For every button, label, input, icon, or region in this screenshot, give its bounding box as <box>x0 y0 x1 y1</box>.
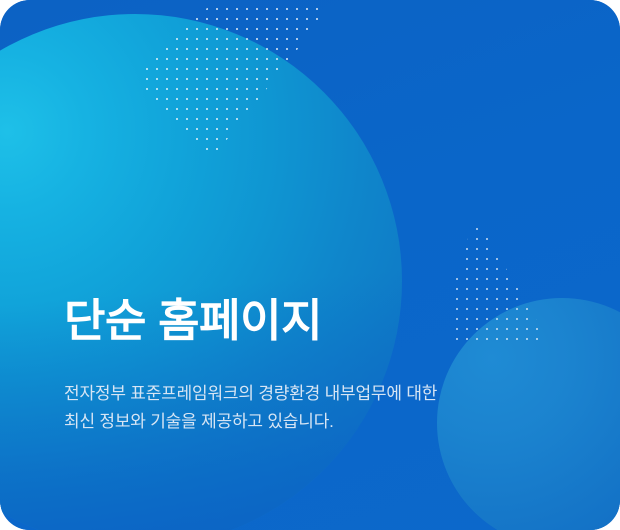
hero-subtitle: 전자정부 표준프레임워크의 경량환경 내부업무에 대한 최신 정보와 기술을 제… <box>64 380 564 436</box>
hero-banner-card: 단순 홈페이지 전자정부 표준프레임워크의 경량환경 내부업무에 대한 최신 정… <box>0 0 620 530</box>
hero-subtitle-line-1: 전자정부 표준프레임워크의 경량환경 내부업무에 대한 <box>64 380 564 408</box>
hero-subtitle-line-2: 최신 정보와 기술을 제공하고 있습니다. <box>64 408 564 436</box>
hero-content: 단순 홈페이지 전자정부 표준프레임워크의 경량환경 내부업무에 대한 최신 정… <box>64 292 564 436</box>
page-title: 단순 홈페이지 <box>64 292 564 350</box>
